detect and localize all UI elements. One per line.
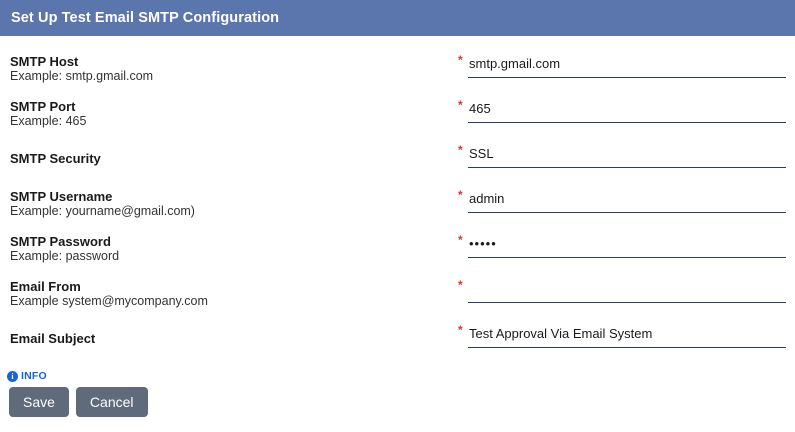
form-footer: i INFO Save Cancel — [0, 360, 795, 432]
label-cell-email-subject: Email Subject — [10, 331, 440, 346]
label-cell-smtp-username: SMTP UsernameExample: yourname@gmail.com… — [10, 189, 440, 219]
required-marker-email-subject: * — [458, 324, 463, 337]
form-row-smtp-host: SMTP HostExample: smtp.gmail.com* — [0, 36, 795, 81]
field-cell-email-subject: * — [458, 324, 786, 358]
label-cell-email-from: Email FromExample system@mycompany.com — [10, 279, 440, 309]
label-cell-smtp-port: SMTP PortExample: 465 — [10, 99, 440, 129]
page-title: Set Up Test Email SMTP Configuration — [0, 10, 279, 26]
field-label-email-subject: Email Subject — [10, 331, 440, 346]
input-smtp-security[interactable] — [468, 144, 786, 168]
form-row-email-subject: Email Subject* — [0, 306, 795, 351]
field-label-smtp-host: SMTP Host — [10, 54, 440, 69]
input-smtp-password[interactable] — [468, 234, 786, 258]
required-marker-smtp-port: * — [458, 99, 463, 112]
info-label: INFO — [21, 370, 47, 382]
smtp-configuration-page: Set Up Test Email SMTP Configuration SMT… — [0, 0, 795, 432]
button-bar: Save Cancel — [9, 387, 148, 417]
required-marker-email-from: * — [458, 279, 463, 292]
label-cell-smtp-password: SMTP PasswordExample: password — [10, 234, 440, 264]
form-row-smtp-security: SMTP Security* — [0, 126, 795, 171]
label-cell-smtp-host: SMTP HostExample: smtp.gmail.com — [10, 54, 440, 84]
form-row-smtp-port: SMTP PortExample: 465* — [0, 81, 795, 126]
info-link[interactable]: i INFO — [7, 370, 47, 382]
form-row-smtp-username: SMTP UsernameExample: yourname@gmail.com… — [0, 171, 795, 216]
form-row-smtp-password: SMTP PasswordExample: password* — [0, 216, 795, 261]
required-marker-smtp-password: * — [458, 234, 463, 247]
input-smtp-host[interactable] — [468, 54, 786, 78]
smtp-form: SMTP HostExample: smtp.gmail.com*SMTP Po… — [0, 36, 795, 356]
field-label-smtp-port: SMTP Port — [10, 99, 440, 114]
field-label-smtp-username: SMTP Username — [10, 189, 440, 204]
input-smtp-username[interactable] — [468, 189, 786, 213]
field-label-email-from: Email From — [10, 279, 440, 294]
label-cell-smtp-security: SMTP Security — [10, 151, 440, 166]
input-smtp-port[interactable] — [468, 99, 786, 123]
field-label-smtp-password: SMTP Password — [10, 234, 440, 249]
cancel-button[interactable]: Cancel — [76, 387, 148, 417]
input-email-from[interactable] — [468, 279, 786, 303]
required-marker-smtp-username: * — [458, 189, 463, 202]
page-header: Set Up Test Email SMTP Configuration — [0, 0, 795, 36]
required-marker-smtp-host: * — [458, 54, 463, 67]
required-marker-smtp-security: * — [458, 144, 463, 157]
info-circle-icon: i — [7, 371, 18, 382]
form-row-email-from: Email FromExample system@mycompany.com* — [0, 261, 795, 306]
field-label-smtp-security: SMTP Security — [10, 151, 440, 166]
input-email-subject[interactable] — [468, 324, 786, 348]
save-button[interactable]: Save — [9, 387, 69, 417]
